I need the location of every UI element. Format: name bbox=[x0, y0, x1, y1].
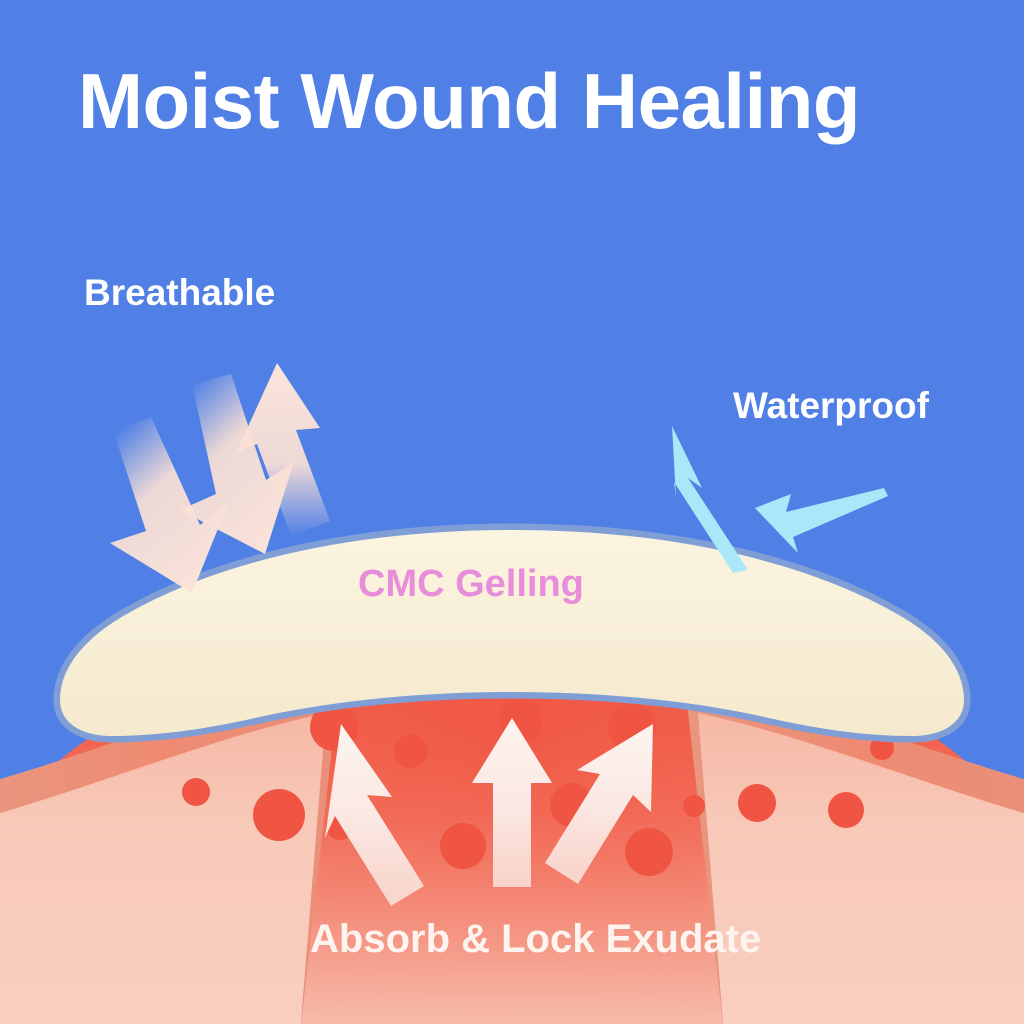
exudate-dot bbox=[253, 789, 305, 841]
exudate-dot bbox=[828, 792, 864, 828]
wound-dressing-illustration bbox=[0, 0, 1024, 1024]
exudate-dot bbox=[683, 795, 705, 817]
exudate-dot bbox=[738, 784, 776, 822]
exudate-dot bbox=[440, 823, 486, 869]
diagram-canvas: Moist Wound Healing Breathable Waterproo… bbox=[0, 0, 1024, 1024]
exudate-dot bbox=[625, 828, 673, 876]
exudate-dot bbox=[182, 778, 210, 806]
